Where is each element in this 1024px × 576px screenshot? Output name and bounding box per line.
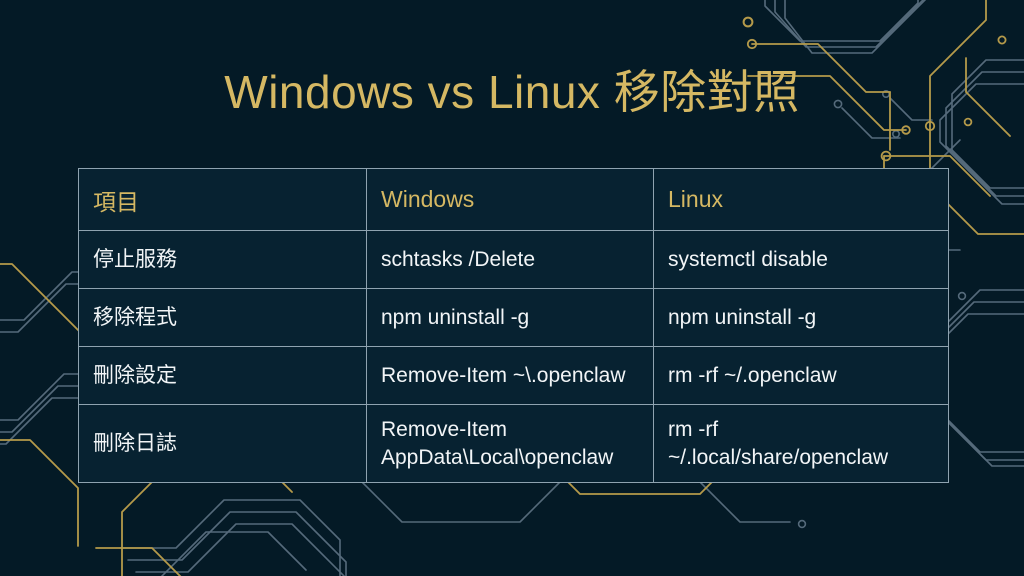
cell-linux: rm -rf ~/.openclaw	[654, 347, 949, 405]
cell-line: schtasks /Delete	[381, 246, 639, 273]
cell-item: 刪除設定	[79, 347, 367, 405]
column-header-linux: Linux	[654, 169, 949, 231]
comparison-table: 項目 Windows Linux 停止服務 schtasks /Delete s…	[78, 168, 949, 483]
table-row: 移除程式 npm uninstall -g npm uninstall -g	[79, 289, 949, 347]
cell-windows: npm uninstall -g	[367, 289, 654, 347]
cell-windows: Remove-Item AppData\Local\openclaw	[367, 405, 654, 483]
cell-item: 停止服務	[79, 231, 367, 289]
cell-item: 刪除日誌	[79, 405, 367, 483]
cell-line: rm -rf	[668, 416, 934, 443]
cell-line: ~/.local/share/openclaw	[668, 444, 934, 471]
table-row: 刪除日誌 Remove-Item AppData\Local\openclaw …	[79, 405, 949, 483]
cell-line: Remove-Item	[381, 416, 639, 443]
column-header-item: 項目	[79, 169, 367, 231]
cell-linux: npm uninstall -g	[654, 289, 949, 347]
cell-windows: Remove-Item ~\.openclaw	[367, 347, 654, 405]
page-title: Windows vs Linux 移除對照	[0, 56, 1024, 122]
table-row: 刪除設定 Remove-Item ~\.openclaw rm -rf ~/.o…	[79, 347, 949, 405]
cell-line: npm uninstall -g	[381, 304, 639, 331]
cell-line: Remove-Item ~\.openclaw	[381, 362, 639, 389]
cell-linux: systemctl disable	[654, 231, 949, 289]
cell-line: rm -rf ~/.openclaw	[668, 362, 934, 389]
comparison-table-container: 項目 Windows Linux 停止服務 schtasks /Delete s…	[78, 168, 948, 483]
cell-line: AppData\Local\openclaw	[381, 444, 639, 471]
cell-line: systemctl disable	[668, 246, 934, 273]
column-header-windows: Windows	[367, 169, 654, 231]
table-header-row: 項目 Windows Linux	[79, 169, 949, 231]
cell-windows: schtasks /Delete	[367, 231, 654, 289]
table-row: 停止服務 schtasks /Delete systemctl disable	[79, 231, 949, 289]
table-header: 項目 Windows Linux	[79, 169, 949, 231]
cell-line: npm uninstall -g	[668, 304, 934, 331]
slide-canvas: Windows vs Linux 移除對照 項目 Windows Linux 停…	[0, 0, 1024, 576]
cell-linux: rm -rf ~/.local/share/openclaw	[654, 405, 949, 483]
cell-item: 移除程式	[79, 289, 367, 347]
table-body: 停止服務 schtasks /Delete systemctl disable …	[79, 231, 949, 483]
